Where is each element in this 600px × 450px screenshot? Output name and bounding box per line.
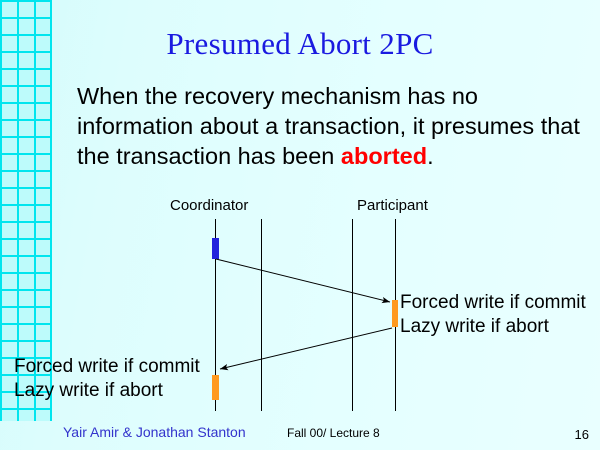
prepare-message-arrow (216, 259, 390, 302)
footer-authors: Yair Amir & Jonathan Stanton (63, 424, 246, 440)
lane-label-participant: Participant (357, 197, 428, 214)
coordinator-lifeline-2 (261, 219, 262, 411)
participant-note-line-2: Lazy write if abort (400, 316, 549, 337)
participant-note-line-1: Forced write if commit (400, 292, 586, 313)
slide-canvas: Presumed Abort 2PC When the recovery mec… (0, 0, 600, 450)
footer-course: Fall 00/ Lecture 8 (287, 426, 380, 440)
vote-message-arrow (220, 328, 392, 369)
coordinator-note-line-2: Lazy write if abort (14, 380, 163, 401)
participant-note: Forced write if commit Lazy write if abo… (400, 291, 586, 339)
footer-page-number: 16 (575, 427, 589, 442)
coordinator-note-line-1: Forced write if commit (14, 356, 200, 377)
participant-write-box (392, 300, 398, 327)
participant-lifeline-1 (352, 219, 353, 411)
lane-label-coordinator: Coordinator (170, 197, 248, 214)
sequence-diagram: Coordinator Participant Forced write if … (0, 0, 600, 450)
coordinator-prepare-box (212, 238, 219, 259)
coordinator-write-box (212, 375, 219, 400)
coordinator-note: Forced write if commit Lazy write if abo… (14, 355, 200, 403)
